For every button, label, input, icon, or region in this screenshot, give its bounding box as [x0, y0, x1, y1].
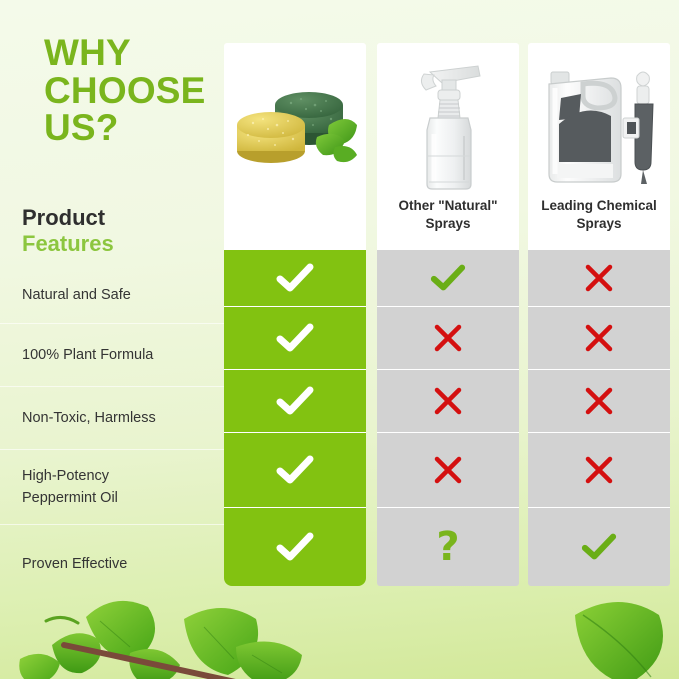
mark-cell-product-row-1 [224, 250, 366, 307]
title-line-2: CHOOSE [44, 72, 229, 110]
mint-tablet-pucks-image [224, 43, 366, 203]
mark-cell-other-row-5: ? [377, 508, 519, 586]
check-icon [275, 322, 315, 354]
column-body-our-product [224, 250, 366, 586]
column-caption-chemical-sprays: Leading Chemical Sprays [528, 197, 670, 232]
mark-cell-product-row-5 [224, 508, 366, 586]
spray-bottle-image [377, 43, 519, 208]
cross-icon [432, 454, 464, 486]
feature-label-row: Proven Effective [0, 525, 224, 603]
feature-label-text: Natural and Safe [22, 284, 131, 306]
mark-cell-other-row-4 [377, 433, 519, 508]
title-line-1: WHY [44, 34, 229, 72]
mark-cell-chemical-row-4 [528, 433, 670, 508]
mark-cell-other-row-1 [377, 250, 519, 307]
mark-cell-product-row-4 [224, 433, 366, 508]
check-icon [429, 263, 467, 293]
mark-cell-chemical-row-5 [528, 508, 670, 586]
feature-label-text: 100% Plant Formula [22, 344, 153, 366]
mark-cell-chemical-row-1 [528, 250, 670, 307]
column-body-other-sprays: ? [377, 250, 519, 586]
page-title: WHY CHOOSE US? [44, 34, 229, 147]
title-line-3: US? [44, 109, 229, 147]
feature-label-text: High-Potency [22, 465, 118, 487]
column-header-our-product [224, 43, 366, 250]
question-mark-icon: ? [436, 527, 459, 567]
feature-label-row: Non-Toxic, Harmless [0, 387, 224, 450]
mint-leaf-decoration-right [553, 585, 679, 679]
features-heading-line-1: Product [22, 205, 114, 231]
mark-cell-other-row-2 [377, 307, 519, 370]
column-caption-other-sprays: Other "Natural" Sprays [377, 197, 519, 232]
check-icon [275, 454, 315, 486]
check-icon [275, 262, 315, 294]
feature-label-row: 100% Plant Formula [0, 324, 224, 387]
features-heading-line-2: Features [22, 231, 114, 257]
features-heading: Product Features [22, 205, 114, 257]
feature-label-row: High-Potency Peppermint Oil [0, 450, 224, 525]
feature-label-text: Non-Toxic, Harmless [22, 407, 156, 429]
mark-cell-product-row-2 [224, 307, 366, 370]
cross-icon [583, 454, 615, 486]
cross-icon [583, 385, 615, 417]
column-body-chemical-sprays [528, 250, 670, 586]
column-our-product [224, 43, 366, 586]
cross-icon [583, 322, 615, 354]
comparison-infographic: WHY CHOOSE US? Product Features Natural … [0, 0, 679, 679]
feature-label-text-second-line: Peppermint Oil [22, 487, 118, 509]
cross-icon [432, 322, 464, 354]
feature-label-row: Natural and Safe [0, 267, 224, 324]
chemical-jug-image [528, 43, 670, 208]
mark-cell-chemical-row-2 [528, 307, 670, 370]
mark-cell-other-row-3 [377, 370, 519, 433]
mark-cell-product-row-3 [224, 370, 366, 433]
feature-label-list: Natural and Safe 100% Plant Formula Non-… [0, 267, 224, 603]
cross-icon [583, 262, 615, 294]
mark-cell-chemical-row-3 [528, 370, 670, 433]
check-icon [275, 385, 315, 417]
column-leading-chemical-sprays: Leading Chemical Sprays [528, 43, 670, 586]
column-header-chemical-sprays: Leading Chemical Sprays [528, 43, 670, 250]
check-icon [275, 531, 315, 563]
column-header-other-sprays: Other "Natural" Sprays [377, 43, 519, 250]
check-icon [580, 532, 618, 562]
cross-icon [432, 385, 464, 417]
column-other-natural-sprays: Other "Natural" Sprays [377, 43, 519, 586]
feature-label-text: Proven Effective [22, 553, 127, 575]
